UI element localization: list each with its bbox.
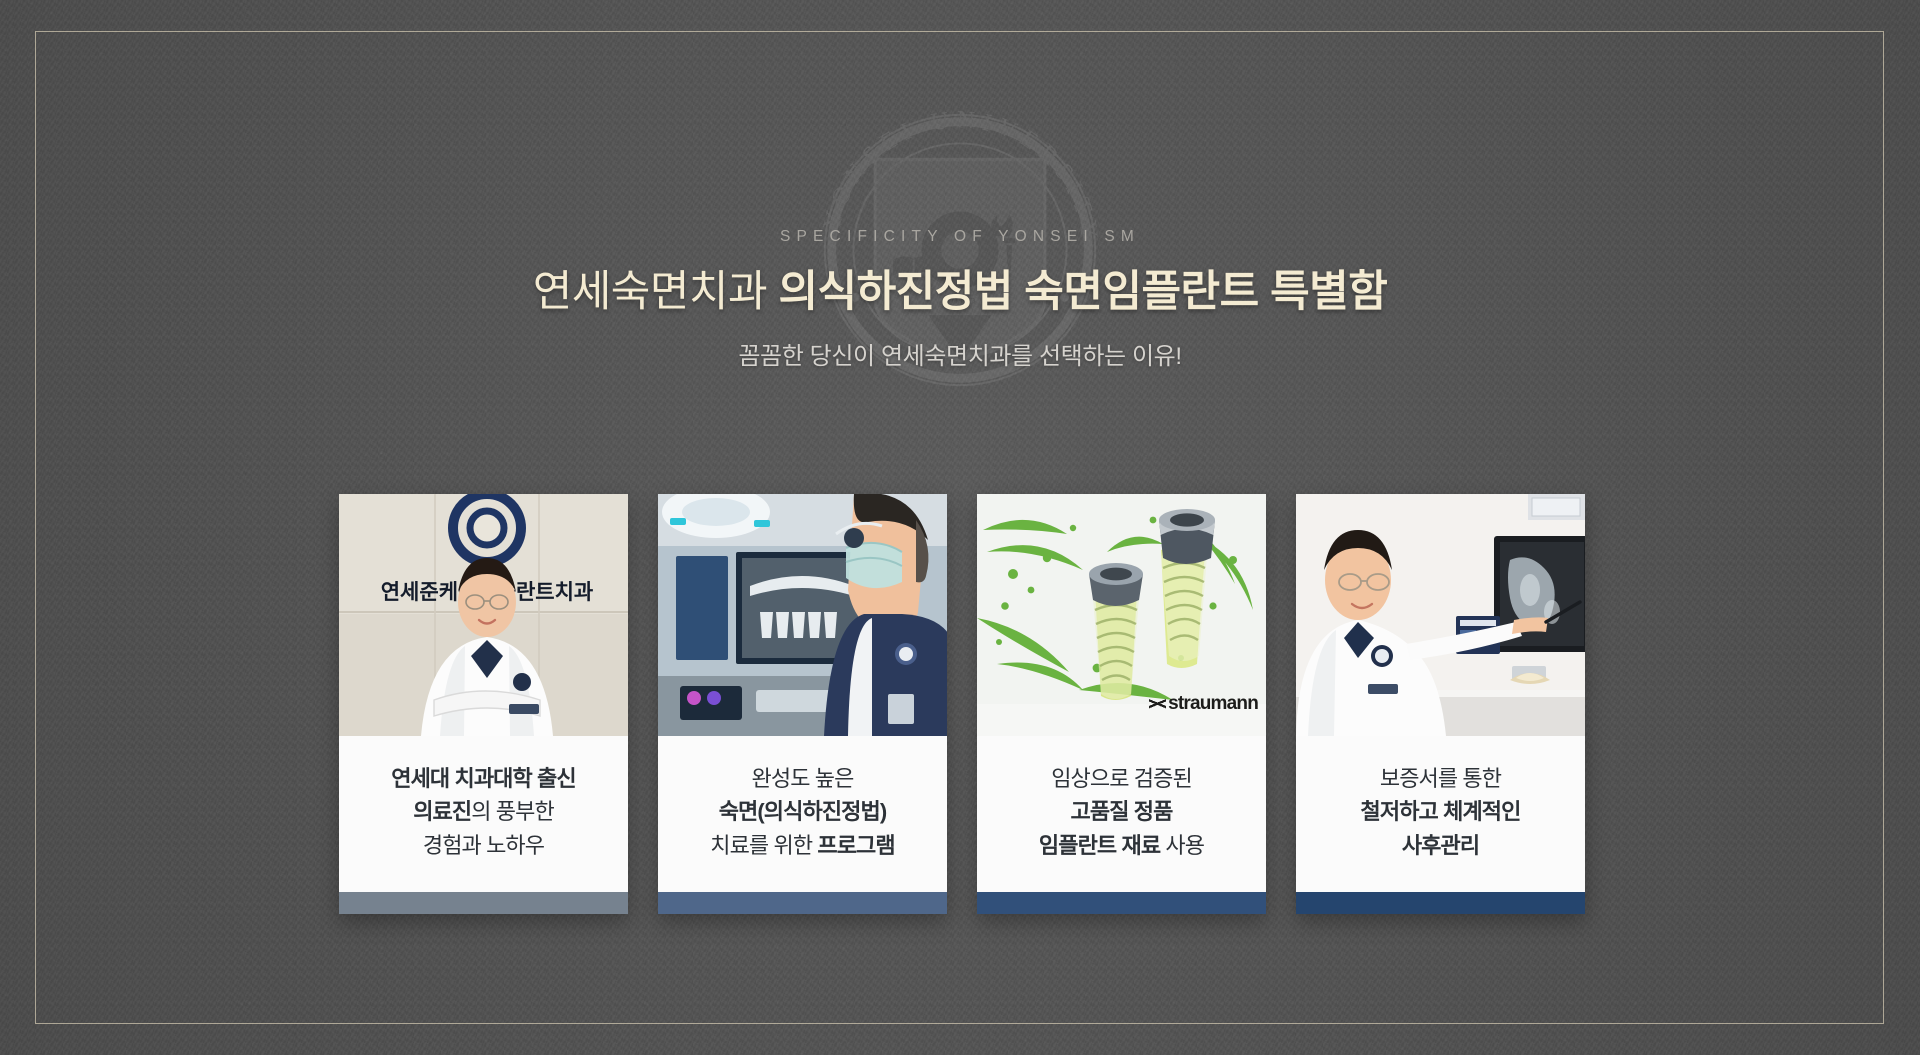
card-2-line-2: 숙면(의식하진정법) — [668, 795, 937, 828]
card-2-line-3-normal: 치료를 위한 — [710, 833, 817, 858]
card-3-line-1: 임상으로 검증된 — [987, 762, 1256, 795]
card-1-line-2-normal: 의 풍부한 — [471, 799, 554, 824]
straumann-logo: straumann — [1149, 693, 1258, 715]
card-2-accent-bar — [658, 892, 947, 914]
card-2-text: 완성도 높은 숙면(의식하진정법) 치료를 위한 프로그램 — [658, 736, 947, 892]
card-4-accent-bar — [1296, 892, 1585, 914]
card-2-photo — [658, 494, 947, 736]
feature-card-4[interactable]: 보증서를 통한 철저하고 체계적인 사후관리 — [1296, 494, 1585, 914]
header-block: SPECIFICITY OF YONSEI SM 연세숙면치과 의식하진정법 숙… — [0, 0, 1920, 371]
card-3-photo: straumann — [977, 494, 1266, 736]
straumann-wordmark: straumann — [1168, 693, 1258, 715]
card-4-photo — [1296, 494, 1585, 736]
card-2-line-3: 치료를 위한 프로그램 — [668, 829, 937, 862]
card-4-line-1: 보증서를 통한 — [1306, 762, 1575, 795]
card-1-photo: 연세준케어임플란트치과 — [339, 494, 628, 736]
card-3-line-2: 고품질 정품 — [987, 795, 1256, 828]
card-1-text: 연세대 치과대학 출신 의료진의 풍부한 경험과 노하우 — [339, 736, 628, 892]
promo-banner: YONSEI UNIVERSITY 1885 — [0, 0, 1920, 1055]
card-2-line-3-bold: 프로그램 — [817, 833, 894, 858]
subtitle-text: 꼼꼼한 당신이 연세숙면치과를 선택하는 이유! — [0, 336, 1920, 371]
card-1-line-3: 경험과 노하우 — [349, 829, 618, 862]
card-4-text: 보증서를 통한 철저하고 체계적인 사후관리 — [1296, 736, 1585, 892]
card-1-line-2-bold: 의료진 — [413, 799, 471, 824]
page-title: 연세숙면치과 의식하진정법 숙면임플란트 특별함 — [0, 268, 1920, 316]
eyebrow-text: SPECIFICITY OF YONSEI SM — [0, 228, 1920, 246]
card-4-line-2: 철저하고 체계적인 — [1306, 795, 1575, 828]
card-1-line-2: 의료진의 풍부한 — [349, 795, 618, 828]
card-3-line-3-normal: 사용 — [1160, 833, 1204, 858]
straumann-mark-icon — [1149, 698, 1166, 710]
card-4-line-3: 사후관리 — [1306, 829, 1575, 862]
card-3-text: 임상으로 검증된 고품질 정품 임플란트 재료 사용 — [977, 736, 1266, 892]
headline-light-part: 연세숙면치과 — [533, 268, 779, 316]
card-3-accent-bar — [977, 892, 1266, 914]
feature-card-2[interactable]: 완성도 높은 숙면(의식하진정법) 치료를 위한 프로그램 — [658, 494, 947, 914]
card-1-accent-bar — [339, 892, 628, 914]
card-1-line-1: 연세대 치과대학 출신 — [349, 762, 618, 795]
card-2-line-1: 완성도 높은 — [668, 762, 937, 795]
feature-card-1[interactable]: 연세준케어임플란트치과 연세대 — [339, 494, 628, 914]
card-3-line-3-bold: 임플란트 재료 — [1039, 833, 1160, 858]
feature-card-3[interactable]: straumann 임상으로 검증된 고품질 정품 임플란트 재료 사용 — [977, 494, 1266, 914]
headline-bold-part: 의식하진정법 숙면임플란트 특별함 — [779, 268, 1388, 316]
card-3-line-3: 임플란트 재료 사용 — [987, 829, 1256, 862]
feature-card-list: 연세준케어임플란트치과 연세대 — [339, 494, 1585, 914]
